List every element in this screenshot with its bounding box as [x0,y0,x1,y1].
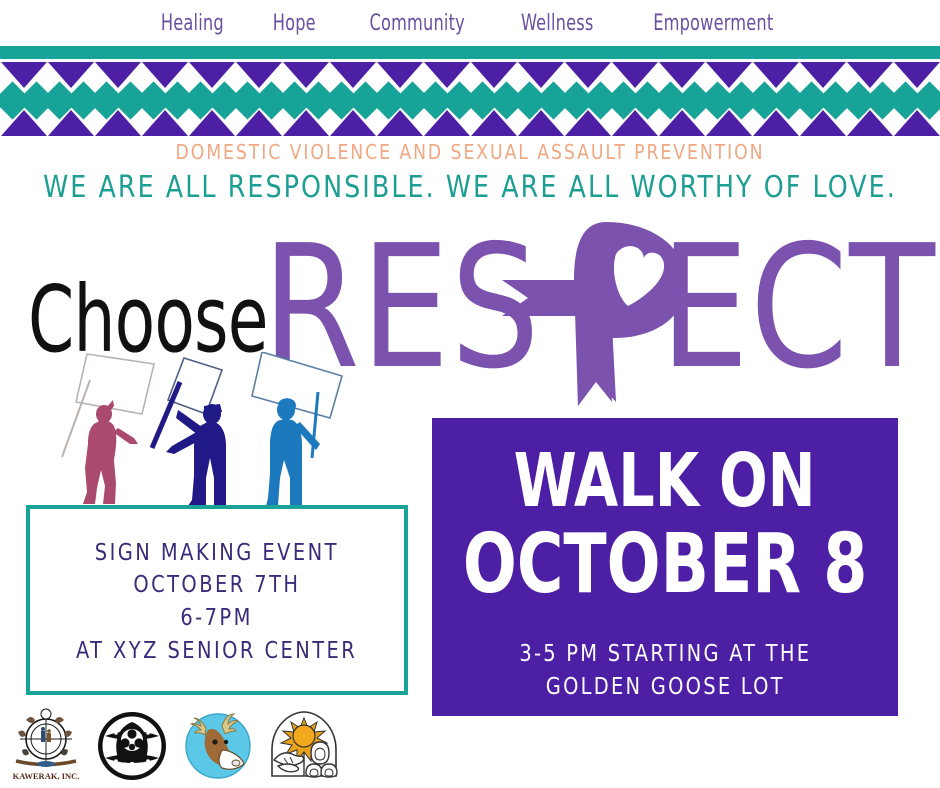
prevention-strapline: DOMESTIC VIOLENCE AND SEXUAL ASSAULT PRE… [19,140,921,164]
nav-word-community: Community [369,11,464,36]
border-triangle-up [377,110,423,136]
top-nav: Healing Hope Community Wellness Empowerm… [0,0,940,46]
kawerak-logo-caption: KAWERAK, INC. [13,771,80,781]
border-triangle-up [706,110,752,136]
tribal-circle-emblem-logo [92,706,172,786]
nav-word-empowerment: Empowerment [653,11,773,36]
border-triangle-up [800,110,846,136]
responsible-strapline: WE ARE ALL RESPONSIBLE. WE ARE ALL WORTH… [28,170,912,205]
border-triangle-up [565,110,611,136]
border-triangle-up [330,110,376,136]
border-triangle-up [189,110,235,136]
sign-event-line-1: SIGN MAKING EVENT [95,537,339,570]
sun-and-hands-logo [264,706,344,786]
border-triangle-up [612,110,658,136]
protester-rose [62,354,154,504]
kawerak-inc-logo: KAWERAK, INC. [6,706,86,786]
sign-event-line-4: AT XYZ SENIOR CENTER [76,635,357,668]
border-triangle-up [424,110,470,136]
nav-word-hope: Hope [273,11,316,36]
teal-divider-rule [0,46,940,59]
sign-making-event-box: SIGN MAKING EVENT OCTOBER 7TH 6-7PM AT X… [26,505,408,695]
wordmark-choose: Choose [28,276,268,363]
border-bottom-triangles [0,110,940,136]
walk-event-panel: WALK ON OCTOBER 8 3-5 PM STARTING AT THE… [432,418,898,716]
sign-event-line-2: OCTOBER 7TH [133,569,300,602]
border-triangle-up [518,110,564,136]
protester-navy [152,358,226,506]
border-triangle-up [48,110,94,136]
walk-headline-line-1: WALK ON [514,444,816,518]
sign-event-line-3: 6-7PM [181,602,254,635]
geometric-border-band [0,62,940,136]
reindeer-circle-logo [178,706,258,786]
nav-word-wellness: Wellness [521,11,594,36]
protester-silhouettes-illustration [54,352,434,510]
wordmark-ect: ECT [660,228,936,390]
border-triangle-up [847,110,893,136]
border-triangle-up [1,110,47,136]
walk-subline-group: 3-5 PM STARTING AT THE GOLDEN GOOSE LOT [519,638,811,703]
border-triangle-up [659,110,705,136]
walk-headline-line-2: OCTOBER 8 [463,524,867,606]
border-triangle-up [753,110,799,136]
border-triangle-up [142,110,188,136]
protester-blue [252,352,342,506]
border-triangle-up [894,110,940,136]
border-triangle-up [95,110,141,136]
nav-word-healing: Healing [161,11,224,36]
border-triangle-up [236,110,282,136]
border-triangle-up [471,110,517,136]
walk-subline-1: 3-5 PM STARTING AT THE [519,638,811,671]
border-triangle-up [283,110,329,136]
partner-logos-row: KAWERAK, INC. [6,706,346,786]
walk-subline-2: GOLDEN GOOSE LOT [519,671,811,704]
